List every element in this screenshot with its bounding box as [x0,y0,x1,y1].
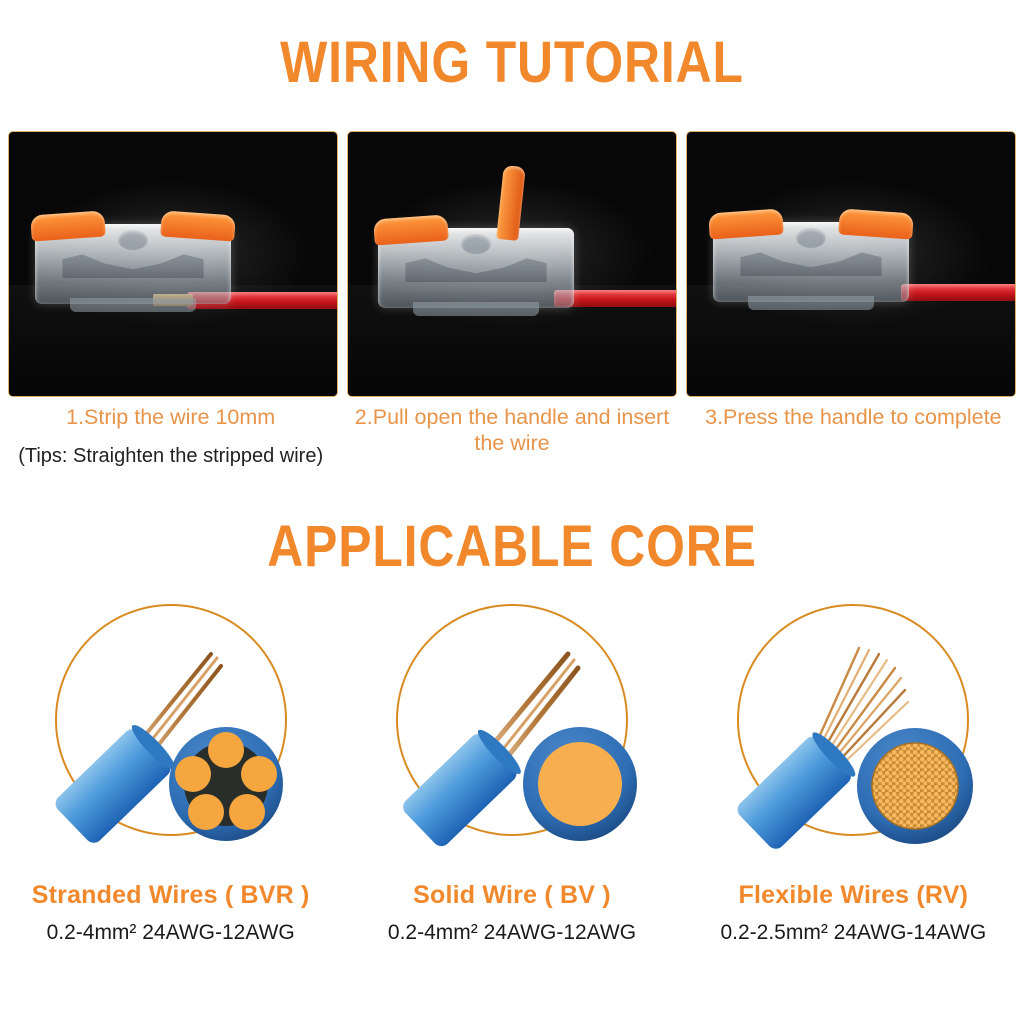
internal-metal-clamp [62,254,203,278]
caption-column-3: 3.Press the handle to complete [683,404,1024,469]
core-name-solid: Solid Wire ( BV ) [347,880,676,910]
internal-metal-clamp [405,258,546,282]
flexible-wire-illustration [703,596,1003,866]
core-spec-solid: 0.2-4mm² 24AWG-12AWG [347,919,676,947]
core-label-solid: Solid Wire ( BV ) 0.2-4mm² 24AWG-12AWG [341,880,682,947]
connector-top-notch [118,230,148,250]
connector-top-notch [461,234,491,254]
wire-cross-section-flexible [857,728,973,844]
lever-connector-body [378,228,574,308]
step-3-caption: 3.Press the handle to complete [693,404,1014,430]
orange-lever-left-closed [373,214,449,245]
orange-lever-right-closed [838,208,914,239]
tutorial-photo-step-2 [347,131,677,397]
tutorial-captions: 1.Strip the wire 10mm (Tips: Straighten … [0,404,1024,469]
connector-foot [748,296,873,310]
connector-foot [70,298,195,312]
step-2-caption: 2.Pull open the handle and insert the wi… [351,404,672,456]
core-name-stranded: Stranded Wires ( BVR ) [6,880,335,910]
solid-wire-illustration [362,596,662,866]
orange-lever-right-open [496,165,526,241]
wire-cross-section-stranded [169,727,283,841]
blue-insulation-body [52,721,179,847]
caption-column-1: 1.Strip the wire 10mm (Tips: Straighten … [0,404,341,469]
core-labels-row: Stranded Wires ( BVR ) 0.2-4mm² 24AWG-12… [0,880,1024,947]
caption-column-2: 2.Pull open the handle and insert the wi… [341,404,682,469]
tutorial-photo-step-1 [8,131,338,397]
core-spec-flexible: 0.2-2.5mm² 24AWG-14AWG [689,919,1018,947]
blue-insulation-body [734,728,860,852]
stranded-wire-illustration [21,596,321,866]
tutorial-photo-strip [8,131,1016,397]
panel-scene-3 [687,132,1015,396]
internal-metal-clamp [740,252,881,276]
page-title-applicable-core: APPLICABLE CORE [72,518,953,576]
connector-top-notch [796,228,826,248]
lever-connector-body [35,224,231,304]
core-column-flexible [683,596,1024,876]
wire-cross-section-solid [523,727,637,841]
step-1-caption: 1.Strip the wire 10mm [10,404,331,430]
core-column-solid [341,596,682,876]
panel-scene-1 [9,132,337,396]
applicable-core-illustrations [0,596,1024,876]
orange-lever-left-closed [708,208,784,239]
core-column-stranded [0,596,341,876]
red-wire-insulation [901,284,1015,301]
page-title-wiring-tutorial: WIRING TUTORIAL [72,34,953,92]
orange-lever-right-closed [160,210,236,241]
core-spec-stranded: 0.2-4mm² 24AWG-12AWG [6,919,335,947]
orange-lever-left-closed [30,210,106,241]
connector-foot [413,302,538,316]
tutorial-photo-step-3 [686,131,1016,397]
step-1-tip: (Tips: Straighten the stripped wire) [10,443,331,469]
core-label-flexible: Flexible Wires (RV) 0.2-2.5mm² 24AWG-14A… [683,880,1024,947]
core-label-stranded: Stranded Wires ( BVR ) 0.2-4mm² 24AWG-12… [0,880,341,947]
infographic-page: WIRING TUTORIAL [0,0,1024,1024]
lever-connector-body [713,222,909,302]
core-name-flexible: Flexible Wires (RV) [689,880,1018,910]
panel-scene-2 [348,132,676,396]
